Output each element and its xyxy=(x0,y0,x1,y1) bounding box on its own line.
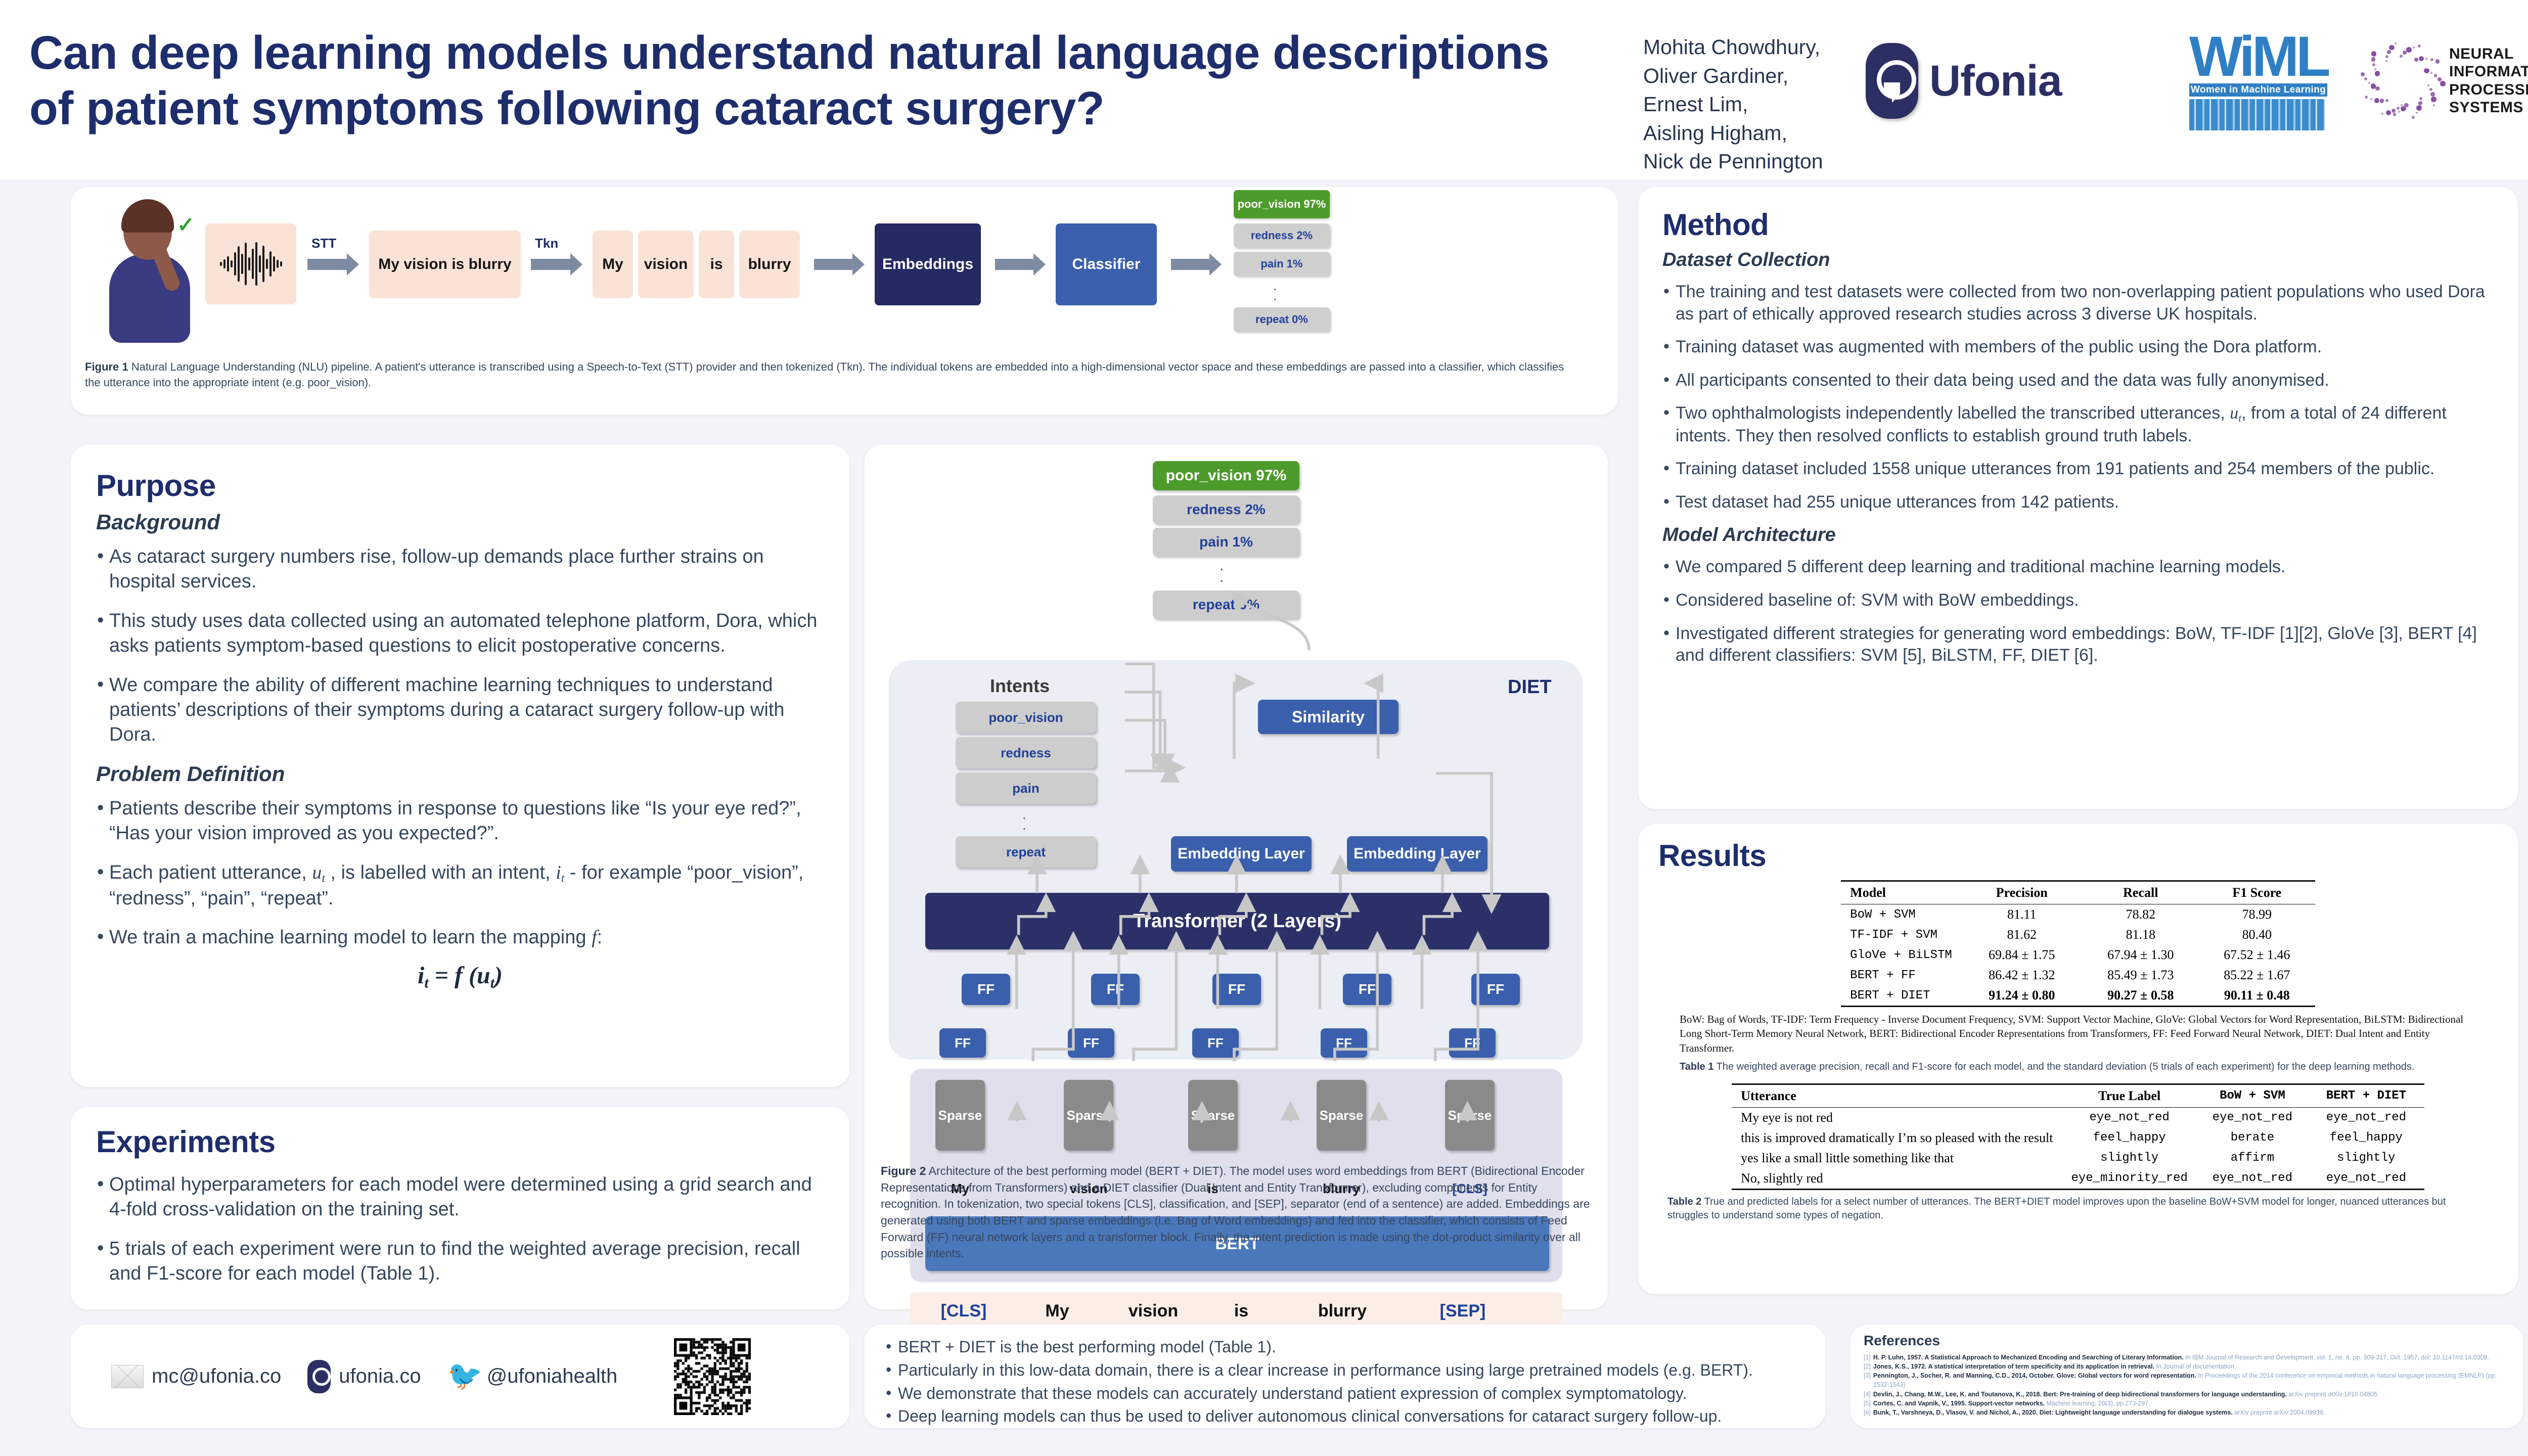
experiments-bullet-0: Optimal hyperparameters for each model w… xyxy=(96,1172,824,1222)
ref-body-1: Jones, K.S., 1972. A statistical interpr… xyxy=(1873,1362,2236,1371)
transcript-box: My vision is blurry xyxy=(369,231,521,298)
conclusion-bullet-2: We demonstrate that these models can acc… xyxy=(885,1384,1805,1403)
list-item: [5] Cortes, C. and Vapnik, V., 1995. Sup… xyxy=(1864,1399,2510,1408)
fig2-intent-item-1: redness xyxy=(956,737,1096,768)
fig2-intent-item-0: poor_vision xyxy=(956,702,1096,733)
audio-waveform-box xyxy=(205,223,296,304)
ff-mid-4: FF xyxy=(1449,1028,1496,1058)
list-item: [3] Pennington, J., Socher, R. and Manni… xyxy=(1864,1371,2510,1389)
input-token-0: [CLS] xyxy=(923,1301,1004,1321)
wiml-tagline: Women in Machine Learning xyxy=(2189,83,2327,97)
arrow-to-intents xyxy=(1171,259,1210,270)
table1-note: BoW: Bag of Words, TF-IDF: Term Frequenc… xyxy=(1658,1012,2498,1055)
t1-r2-f1: 67.52 ± 1.46 xyxy=(2199,945,2315,965)
ref-body-5: Bunk, T., Varshneya, D., Vlasov, V. and … xyxy=(1873,1408,2325,1417)
results-heading: Results xyxy=(1658,838,2498,873)
ref-main-0: H. P. Luhn, 1957. A Statistical Approach… xyxy=(1873,1354,2184,1361)
sparse-3: Sparse xyxy=(1317,1080,1366,1151)
conclusion-bullet-1: Particularly in this low-data domain, th… xyxy=(885,1361,1805,1380)
purpose-heading: Purpose xyxy=(96,468,824,503)
table1: Model Precision Recall F1 Score BoW + SV… xyxy=(1841,880,2315,1007)
t2-r2-true: slightly xyxy=(2062,1148,2196,1168)
background-bullet-2: We compare the ability of different mach… xyxy=(96,673,824,748)
mapping-equation: it = f (ut) xyxy=(96,962,824,991)
table-row: this is improved dramatically I’m so ple… xyxy=(1732,1128,2424,1148)
t1-r1-f1: 80.40 xyxy=(2199,925,2315,945)
waveform-icon xyxy=(220,242,282,286)
figure2-caption-label: Figure 2 xyxy=(881,1164,926,1177)
input-token-2: vision xyxy=(1110,1301,1196,1321)
table2-col-true: True Label xyxy=(2062,1084,2196,1107)
transformer-box: Transformer (2 Layers) xyxy=(925,893,1549,949)
results-card: Results Model Precision Recall F1 Score … xyxy=(1638,824,2518,1294)
figure2-caption: Figure 2 Architecture of the best perfor… xyxy=(881,1163,1594,1262)
ufonia-icon xyxy=(307,1360,331,1393)
list-item: [6] Bunk, T., Varshneya, D., Vlasov, V. … xyxy=(1864,1408,2510,1417)
t1-r4-model: BERT + DIET xyxy=(1841,985,1961,1007)
table-row: yes like a small little something like t… xyxy=(1732,1148,2424,1168)
t1-r3-recall: 85.49 ± 1.73 xyxy=(2083,965,2199,985)
table2-caption-label: Table 2 xyxy=(1667,1196,1701,1207)
classifier-box: Classifier xyxy=(1056,223,1157,305)
table2-caption-text: True and predicted labels for a select n… xyxy=(1667,1196,2446,1221)
ref-main-3: Devlin, J., Chang, M.W., Lee, K. and Tou… xyxy=(1873,1391,2287,1398)
figure2-card: poor_vision 97% redness 2% pain 1% ... r… xyxy=(865,445,1608,1309)
experiments-bullet-1: 5 trials of each experiment were run to … xyxy=(96,1237,824,1287)
table1-caption: Table 1 The weighted average precision, … xyxy=(1658,1060,2498,1074)
fig2-output-intent-0: poor_vision 97% xyxy=(1153,461,1299,490)
embeddings-box: Embeddings xyxy=(875,223,981,305)
token-box-0: My xyxy=(593,231,633,298)
references-list: [1] H. P. Luhn, 1957. A Statistical Appr… xyxy=(1864,1353,2510,1417)
t2-r3-bow: eye_not_red xyxy=(2197,1168,2308,1190)
contact-website[interactable]: ufonia.co xyxy=(307,1360,421,1393)
table-row: BERT + DIET 91.24 ± 0.80 90.27 ± 0.58 90… xyxy=(1841,985,2315,1007)
fig2-intent-item-3: repeat xyxy=(956,836,1096,868)
list-item: [1] H. P. Luhn, 1957. A Statistical Appr… xyxy=(1864,1353,2510,1362)
dataset-bullet-4: Training dataset included 1558 unique ut… xyxy=(1662,458,2494,480)
contact-card: mc@ufonia.co ufonia.co 🐦 @ufoniahealth xyxy=(71,1325,849,1428)
table1-wrapper: Model Precision Recall F1 Score BoW + SV… xyxy=(1658,880,2498,1007)
poster-root: Can deep learning models understand natu… xyxy=(0,0,2528,1456)
ref-num-1: [2] xyxy=(1864,1362,1871,1371)
ff-top-0: FF xyxy=(962,974,1010,1005)
poster-header: Can deep learning models understand natu… xyxy=(0,0,2528,179)
token-box-3: blurry xyxy=(739,231,800,298)
arrow-stt xyxy=(307,259,348,270)
ff-top-3: FF xyxy=(1343,974,1391,1005)
table1-col-precision: Precision xyxy=(1961,881,2083,904)
ref-num-4: [5] xyxy=(1864,1399,1871,1408)
fig1-intent-1: redness 2% xyxy=(1234,223,1330,248)
conclusions-card: BERT + DIET is the best performing model… xyxy=(865,1325,1825,1428)
neurips-wordmark: NEURAL INFORMATION PROCESSING SYSTEMS xyxy=(2449,45,2528,116)
dataset-bullet-2: All participants consented to their data… xyxy=(1662,370,2494,392)
dataset-bullet-list: The training and test datasets were coll… xyxy=(1662,281,2494,513)
patient-body xyxy=(109,254,190,343)
ref-main-1: Jones, K.S., 1972. A statistical interpr… xyxy=(1873,1363,2154,1370)
embedding-layer-left: Embedding Layer xyxy=(1171,836,1312,872)
table2-header-row: Utterance True Label BoW + SVM BERT + DI… xyxy=(1732,1084,2424,1107)
table-row: BoW + SVM 81.11 78.82 78.99 xyxy=(1841,904,2315,925)
qr-code[interactable] xyxy=(674,1338,751,1415)
table1-header-row: Model Precision Recall F1 Score xyxy=(1841,881,2315,904)
t2-r0-bow: eye_not_red xyxy=(2197,1107,2308,1128)
ref-main-4: Cortes, C. and Vapnik, V., 1995. Support… xyxy=(1873,1400,2045,1407)
ref-num-2: [3] xyxy=(1864,1371,1871,1389)
sparse-2: Sparse xyxy=(1188,1080,1238,1151)
problem-bullet-0: Patients describe their symptoms in resp… xyxy=(96,796,824,846)
ufonia-logo: Ufonia xyxy=(1866,43,2062,119)
conclusions-bullet-list: BERT + DIET is the best performing model… xyxy=(885,1338,1805,1426)
input-token-5: [SEP] xyxy=(1420,1301,1506,1321)
method-card: Method Dataset Collection The training a… xyxy=(1638,187,2518,809)
t1-r3-model: BERT + FF xyxy=(1841,965,1961,985)
t1-r4-f1: 90.11 ± 0.48 xyxy=(2199,985,2315,1007)
ff-mid-2: FF xyxy=(1192,1028,1239,1058)
fig2-output-intent-3: repeat 0% xyxy=(1153,590,1299,619)
arrow-tkn xyxy=(531,259,571,270)
tkn-label: Tkn xyxy=(535,236,558,251)
table-row: My eye is not red eye_not_red eye_not_re… xyxy=(1732,1107,2424,1128)
references-heading: References xyxy=(1864,1333,2510,1349)
neurips-swirl-icon xyxy=(2366,40,2442,121)
ufonia-wordmark: Ufonia xyxy=(1929,56,2062,106)
t2-r3-true: eye_minority_red xyxy=(2062,1168,2196,1190)
stt-label: STT xyxy=(311,236,336,251)
table2: Utterance True Label BoW + SVM BERT + DI… xyxy=(1732,1083,2424,1190)
t2-r0-utterance: My eye is not red xyxy=(1732,1107,2062,1128)
ref-main-5: Bunk, T., Varshneya, D., Vlasov, V. and … xyxy=(1873,1409,2233,1416)
fig1-ellipsis: ... xyxy=(1273,281,1277,311)
ff-mid-3: FF xyxy=(1321,1028,1367,1058)
model-subheading: Model Architecture xyxy=(1662,524,2494,546)
background-bullet-0: As cataract surgery numbers rise, follow… xyxy=(96,544,824,595)
t1-r1-model: TF-IDF + SVM xyxy=(1841,925,1961,945)
figure1-card: ✓ STT My vision is blurry Tkn My vision … xyxy=(71,187,1618,415)
sparse-1: Sparse xyxy=(1064,1080,1113,1151)
t1-r1-precision: 81.62 xyxy=(1961,925,2083,945)
t2-r0-true: eye_not_red xyxy=(2062,1107,2196,1128)
figure1-caption: Figure 1 Natural Language Understanding … xyxy=(85,359,1576,390)
input-token-4: blurry xyxy=(1294,1301,1390,1321)
ff-top-2: FF xyxy=(1212,974,1261,1005)
author-line-2: Oliver Gardiner, xyxy=(1643,62,1845,90)
ref-sub-3: arXiv preprint arXiv:1810.04805. xyxy=(2287,1391,2379,1398)
purpose-card: Purpose Background As cataract surgery n… xyxy=(71,445,849,1087)
t1-r0-precision: 81.11 xyxy=(1961,904,2083,925)
patient-illustration: ✓ xyxy=(101,201,197,343)
t1-r2-model: GloVe + BiLSTM xyxy=(1841,945,1961,965)
table2-wrapper: Utterance True Label BoW + SVM BERT + DI… xyxy=(1658,1083,2498,1190)
ref-body-2: Pennington, J., Socher, R. and Manning, … xyxy=(1873,1371,2510,1389)
ref-body-0: H. P. Luhn, 1957. A Statistical Approach… xyxy=(1873,1353,2489,1362)
table-row: BERT + FF 86.42 ± 1.32 85.49 ± 1.73 85.2… xyxy=(1841,965,2315,985)
author-line-4: Aisling Higham, xyxy=(1643,119,1845,148)
sparse-4: Sparse xyxy=(1445,1080,1495,1151)
author-line-1: Mohita Chowdhury, xyxy=(1643,33,1845,62)
wiml-pattern-strip-icon xyxy=(2189,99,2325,130)
fig2-output-ellipsis: ... xyxy=(1220,560,1224,595)
model-bullet-2: Investigated different strategies for ge… xyxy=(1662,623,2494,667)
problem-bullet-2: We train a machine learning model to lea… xyxy=(96,925,824,950)
fig1-intent-2: pain 1% xyxy=(1234,252,1330,276)
twitter-bird-icon: 🐦 xyxy=(447,1363,479,1390)
figure1-caption-text: Natural Language Understanding (NLU) pip… xyxy=(85,360,1564,389)
ref-body-3: Devlin, J., Chang, M.W., Lee, K. and Tou… xyxy=(1873,1390,2379,1399)
dataset-bullet-0: The training and test datasets were coll… xyxy=(1662,281,2494,325)
patient-hair xyxy=(121,199,174,233)
conclusion-bullet-0: BERT + DIET is the best performing model… xyxy=(885,1338,1805,1357)
t1-r2-recall: 67.94 ± 1.30 xyxy=(2083,945,2199,965)
table1-caption-text: The weighted average precision, recall a… xyxy=(1713,1061,2414,1072)
t1-r0-recall: 78.82 xyxy=(2083,904,2199,925)
t2-r1-bert: feel_happy xyxy=(2308,1128,2424,1148)
conclusion-bullet-3: Deep learning models can thus be used to… xyxy=(885,1407,1805,1426)
neurips-line-3: PROCESSING xyxy=(2449,81,2528,99)
sparse-0: Sparse xyxy=(935,1080,985,1151)
input-token-1: My xyxy=(1024,1301,1090,1321)
t1-r0-model: BoW + SVM xyxy=(1841,904,1961,925)
t2-r1-utterance: this is improved dramatically I’m so ple… xyxy=(1732,1128,2062,1148)
author-list: Mohita Chowdhury, Oliver Gardiner, Ernes… xyxy=(1643,33,1845,176)
model-bullet-list: We compared 5 different deep learning an… xyxy=(1662,556,2494,666)
token-box-1: vision xyxy=(638,231,694,298)
ff-mid-1: FF xyxy=(1068,1028,1114,1058)
table-row: No, slightly red eye_minority_red eye_no… xyxy=(1732,1168,2424,1190)
ref-num-3: [4] xyxy=(1864,1390,1871,1399)
contact-email-text: mc@ufonia.co xyxy=(152,1365,281,1388)
contact-email[interactable]: mc@ufonia.co xyxy=(111,1365,281,1388)
nlu-pipeline-diagram: ✓ STT My vision is blurry Tkn My vision … xyxy=(71,187,1618,354)
fig2-output-intent-1: redness 2% xyxy=(1153,495,1299,524)
table2-caption: Table 2 True and predicted labels for a … xyxy=(1658,1195,2498,1223)
mail-icon xyxy=(111,1365,144,1388)
ref-num-0: [1] xyxy=(1864,1353,1871,1362)
ref-sub-4: Machine learning, 20(3), pp.273-297. xyxy=(2045,1400,2150,1407)
neurips-line-4: SYSTEMS xyxy=(2449,99,2528,116)
ff-top-1: FF xyxy=(1091,974,1140,1005)
table1-col-model: Model xyxy=(1841,881,1961,904)
ref-sub-5: arXiv preprint arXiv:2004.09936. xyxy=(2233,1409,2325,1416)
t2-r1-true: feel_happy xyxy=(2062,1128,2196,1148)
ff-mid-0: FF xyxy=(939,1028,986,1058)
experiments-card: Experiments Optimal hyperparameters for … xyxy=(71,1107,849,1309)
table-row: GloVe + BiLSTM 69.84 ± 1.75 67.94 ± 1.30… xyxy=(1841,945,2315,965)
author-line-5: Nick de Pennington xyxy=(1643,147,1845,176)
contact-twitter[interactable]: 🐦 @ufoniahealth xyxy=(447,1363,618,1390)
t1-r3-precision: 86.42 ± 1.32 xyxy=(1961,965,2083,985)
token-box-2: is xyxy=(699,231,734,298)
t1-r3-f1: 85.22 ± 1.67 xyxy=(2199,965,2315,985)
fig2-intent-item-2: pain xyxy=(956,772,1096,804)
table1-col-recall: Recall xyxy=(2083,881,2199,904)
wiml-wordmark: WiML xyxy=(2189,30,2336,82)
similarity-box: Similarity xyxy=(1258,700,1398,734)
table2-col-bert: BERT + DIET xyxy=(2308,1084,2424,1107)
problem-subheading: Problem Definition xyxy=(96,762,824,786)
ref-sub-1: In Journal of documentation. xyxy=(2154,1363,2236,1370)
neurips-line-2: INFORMATION xyxy=(2449,63,2528,80)
diet-label: DIET xyxy=(1508,676,1552,698)
experiments-heading: Experiments xyxy=(96,1124,824,1159)
ref-body-4: Cortes, C. and Vapnik, V., 1995. Support… xyxy=(1873,1399,2150,1408)
contact-twitter-text: @ufoniahealth xyxy=(487,1365,618,1388)
diet-architecture-diagram: poor_vision 97% redness 2% pain 1% ... r… xyxy=(880,458,1593,1166)
model-bullet-1: Considered baseline of: SVM with BoW emb… xyxy=(1662,589,2494,612)
t1-r1-recall: 81.18 xyxy=(2083,925,2199,945)
list-item: [2] Jones, K.S., 1972. A statistical int… xyxy=(1864,1362,2510,1371)
fig2-output-intent-2: pain 1% xyxy=(1153,528,1299,556)
author-line-3: Ernest Lim, xyxy=(1643,90,1845,119)
ref-sub-0: In IBM Journal of Research and Developme… xyxy=(2184,1354,2489,1361)
t2-r0-bert: eye_not_red xyxy=(2308,1107,2424,1128)
t2-r2-utterance: yes like a small little something like t… xyxy=(1732,1148,2062,1168)
background-bullet-1: This study uses data collected using an … xyxy=(96,609,824,659)
check-icon: ✓ xyxy=(177,212,195,237)
embedding-layer-right: Embedding Layer xyxy=(1347,836,1487,872)
fig1-intent-3: repeat 0% xyxy=(1234,307,1330,332)
arrow-to-embeddings xyxy=(814,259,853,270)
ff-top-4: FF xyxy=(1471,974,1520,1005)
ref-num-5: [6] xyxy=(1864,1408,1871,1417)
ref-main-2: Pennington, J., Socher, R. and Manning, … xyxy=(1873,1372,2196,1379)
fig1-intent-0: poor_vision 97% xyxy=(1234,190,1330,218)
background-bullet-list: As cataract surgery numbers rise, follow… xyxy=(96,544,824,748)
t2-r3-utterance: No, slightly red xyxy=(1732,1168,2062,1190)
t1-r4-precision: 91.24 ± 0.80 xyxy=(1961,985,2083,1007)
t2-r1-bow: berate xyxy=(2197,1128,2308,1148)
wiml-logo: WiML Women in Machine Learning xyxy=(2189,30,2336,139)
contact-website-text: ufonia.co xyxy=(339,1365,421,1388)
problem-bullet-list: Patients describe their symptoms in resp… xyxy=(96,796,824,950)
references-card: References [1] H. P. Luhn, 1957. A Stati… xyxy=(1850,1325,2523,1428)
method-heading: Method xyxy=(1662,207,2494,242)
neurips-line-1: NEURAL xyxy=(2449,45,2528,63)
table2-col-bow: BoW + SVM xyxy=(2197,1084,2308,1107)
page-title: Can deep learning models understand natu… xyxy=(29,25,1602,136)
input-token-3: is xyxy=(1213,1301,1269,1321)
dataset-bullet-3: Two ophthalmologists independently label… xyxy=(1662,402,2494,447)
intents-label: Intents xyxy=(990,675,1050,697)
dataset-bullet-5: Test dataset had 255 unique utterances f… xyxy=(1662,491,2494,514)
table1-caption-label: Table 1 xyxy=(1680,1061,1713,1072)
ufonia-mark-icon xyxy=(1866,43,1918,119)
background-subheading: Background xyxy=(96,510,824,534)
t1-r2-precision: 69.84 ± 1.75 xyxy=(1961,945,2083,965)
t2-r3-bert: eye_not_red xyxy=(2308,1168,2424,1190)
figure2-caption-text: Architecture of the best performing mode… xyxy=(881,1164,1590,1260)
t2-r2-bert: slightly xyxy=(2308,1148,2424,1168)
arrow-to-classifier xyxy=(995,259,1034,270)
neurips-logo: NEURAL INFORMATION PROCESSING SYSTEMS xyxy=(2366,26,2528,135)
problem-bullet-1: Each patient utterance, ut , is labelled… xyxy=(96,860,824,912)
table2-col-utterance: Utterance xyxy=(1732,1084,2062,1107)
table-row: TF-IDF + SVM 81.62 81.18 80.40 xyxy=(1841,925,2315,945)
dataset-subheading: Dataset Collection xyxy=(1662,249,2494,271)
figure1-caption-label: Figure 1 xyxy=(85,360,128,373)
experiments-bullet-list: Optimal hyperparameters for each model w… xyxy=(96,1172,824,1287)
list-item: [4] Devlin, J., Chang, M.W., Lee, K. and… xyxy=(1864,1390,2510,1399)
table1-col-f1: F1 Score xyxy=(2199,881,2315,904)
model-bullet-0: We compared 5 different deep learning an… xyxy=(1662,556,2494,578)
t2-r2-bow: affirm xyxy=(2197,1148,2308,1168)
t1-r4-recall: 90.27 ± 0.58 xyxy=(2083,985,2199,1007)
t1-r0-f1: 78.99 xyxy=(2199,904,2315,925)
dataset-bullet-1: Training dataset was augmented with memb… xyxy=(1662,336,2494,358)
